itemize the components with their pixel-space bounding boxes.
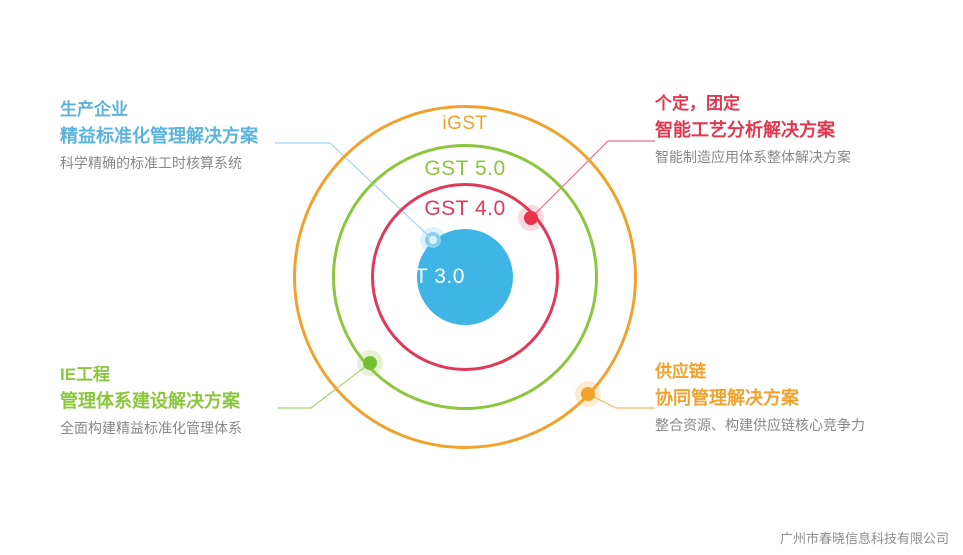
footer-company-name: 广州市春晓信息科技有限公司 — [780, 528, 949, 547]
callout-subtitle: 智能制造应用体系整体解决方案 — [655, 146, 851, 168]
callout-subtitle: 整合资源、构建供应链核心竞争力 — [655, 414, 865, 436]
node-dot-gst-5[interactable] — [363, 356, 377, 370]
ring-label-gst-3: GST 3.0 — [384, 265, 465, 289]
ring-label-igst: iGST — [442, 113, 487, 135]
callout-headline: 管理体系建设解决方案 — [60, 388, 242, 415]
callout-subtitle: 科学精确的标准工时核算系统 — [60, 152, 258, 174]
diagram-canvas: GST 3.0 iGST GST 5.0 GST 4.0 生产企业 精益标准化管… — [0, 0, 963, 555]
ring-label-gst-4: GST 4.0 — [424, 197, 505, 221]
callout-bottom-left[interactable]: IE工程 管理体系建设解决方案 全面构建精益标准化管理体系 — [60, 363, 242, 439]
callout-subtitle: 全面构建精益标准化管理体系 — [60, 417, 242, 439]
callout-bottom-right[interactable]: 供应链 协同管理解决方案 整合资源、构建供应链核心竞争力 — [655, 360, 865, 436]
callout-kicker: 供应链 — [655, 360, 865, 385]
callout-top-right[interactable]: 个定，团定 智能工艺分析解决方案 智能制造应用体系整体解决方案 — [655, 92, 851, 168]
callout-kicker: 个定，团定 — [655, 92, 851, 117]
callout-kicker: 生产企业 — [60, 98, 258, 123]
ring-label-gst-5: GST 5.0 — [424, 157, 505, 181]
callout-headline: 协同管理解决方案 — [655, 385, 865, 412]
callout-kicker: IE工程 — [60, 363, 242, 388]
node-dot-gst-4[interactable] — [524, 211, 538, 225]
node-dot-igst[interactable] — [581, 387, 595, 401]
callout-headline: 精益标准化管理解决方案 — [60, 123, 258, 150]
callout-headline: 智能工艺分析解决方案 — [655, 117, 851, 144]
callout-top-left[interactable]: 生产企业 精益标准化管理解决方案 科学精确的标准工时核算系统 — [60, 98, 258, 174]
node-dot-gst-3[interactable] — [425, 232, 441, 248]
